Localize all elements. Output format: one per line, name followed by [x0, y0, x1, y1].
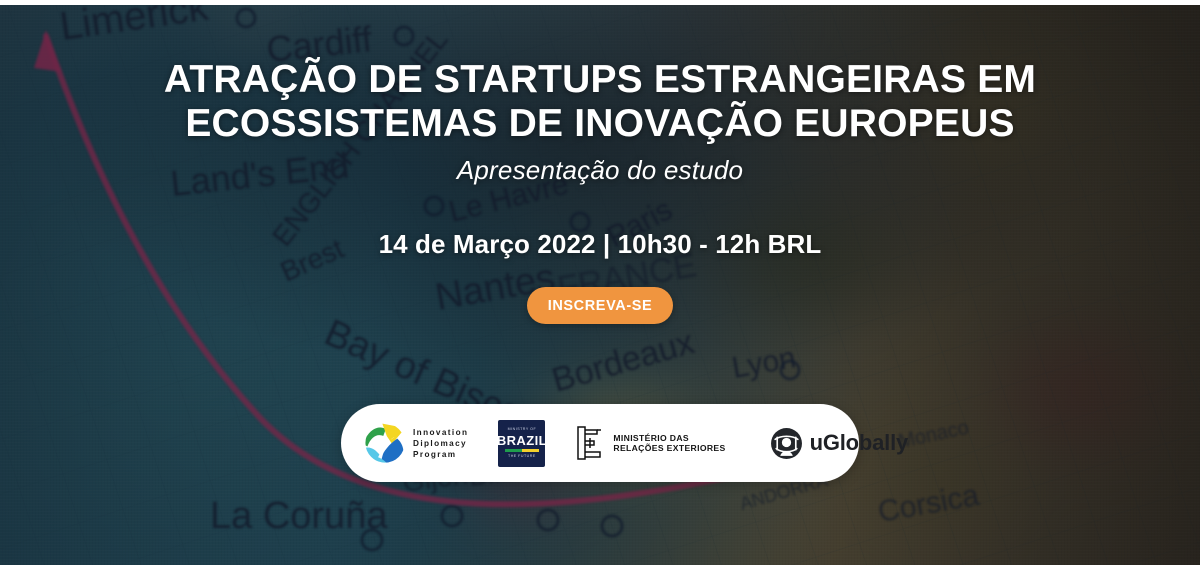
logo-brazil[interactable]: MINISTRY OF BRAZIL THE FUTURE: [498, 420, 545, 467]
logo-idp-text: Innovation Diplomacy Program: [413, 427, 468, 460]
top-white-strip: [0, 0, 1200, 5]
logo-innovation-diplomacy-program[interactable]: Innovation Diplomacy Program: [363, 421, 468, 465]
event-datetime: 14 de Março 2022 | 10h30 - 12h BRL: [379, 229, 822, 260]
logo-ministerio-relacoes-exteriores[interactable]: MINISTÉRIO DAS RELAÇÕES EXTERIORES: [575, 424, 725, 462]
logo-idp-line-2: Diplomacy: [413, 438, 468, 449]
headline-line-2: ECOSSISTEMAS DE INOVAÇÃO EUROPEUS: [100, 102, 1100, 146]
itamaraty-mark-icon: [575, 424, 605, 462]
logo-mre-line-1: MINISTÉRIO DAS: [613, 433, 725, 444]
event-banner: Limerick Cardiff Land's End ENGLISH CHAN…: [0, 0, 1200, 565]
headline-line-1: ATRAÇÃO DE STARTUPS ESTRANGEIRAS EM: [100, 58, 1100, 102]
logo-brazil-bottom-text: THE FUTURE: [508, 454, 536, 459]
subtitle: Apresentação do estudo: [457, 155, 743, 186]
logo-uglobally[interactable]: uGlobally: [770, 427, 908, 460]
logo-brazil-color-rule: [505, 449, 539, 452]
logo-idp-line-1: Innovation: [413, 427, 468, 438]
sponsor-logo-bar: Innovation Diplomacy Program MINISTRY OF…: [341, 404, 859, 482]
logo-brazil-main-text: BRAZIL: [497, 434, 547, 448]
globe-circle-icon: [770, 427, 803, 460]
logo-brazil-top-text: MINISTRY OF: [508, 427, 537, 432]
logo-mre-text: MINISTÉRIO DAS RELAÇÕES EXTERIORES: [613, 433, 725, 454]
logo-mre-line-2: RELAÇÕES EXTERIORES: [613, 443, 725, 454]
register-button[interactable]: INSCREVA-SE: [527, 287, 673, 324]
logo-uglobally-text: uGlobally: [810, 430, 908, 456]
logo-idp-line-3: Program: [413, 449, 468, 460]
multicolor-circle-swirl-icon: [363, 421, 407, 465]
page-title: ATRAÇÃO DE STARTUPS ESTRANGEIRAS EM ECOS…: [100, 58, 1100, 146]
